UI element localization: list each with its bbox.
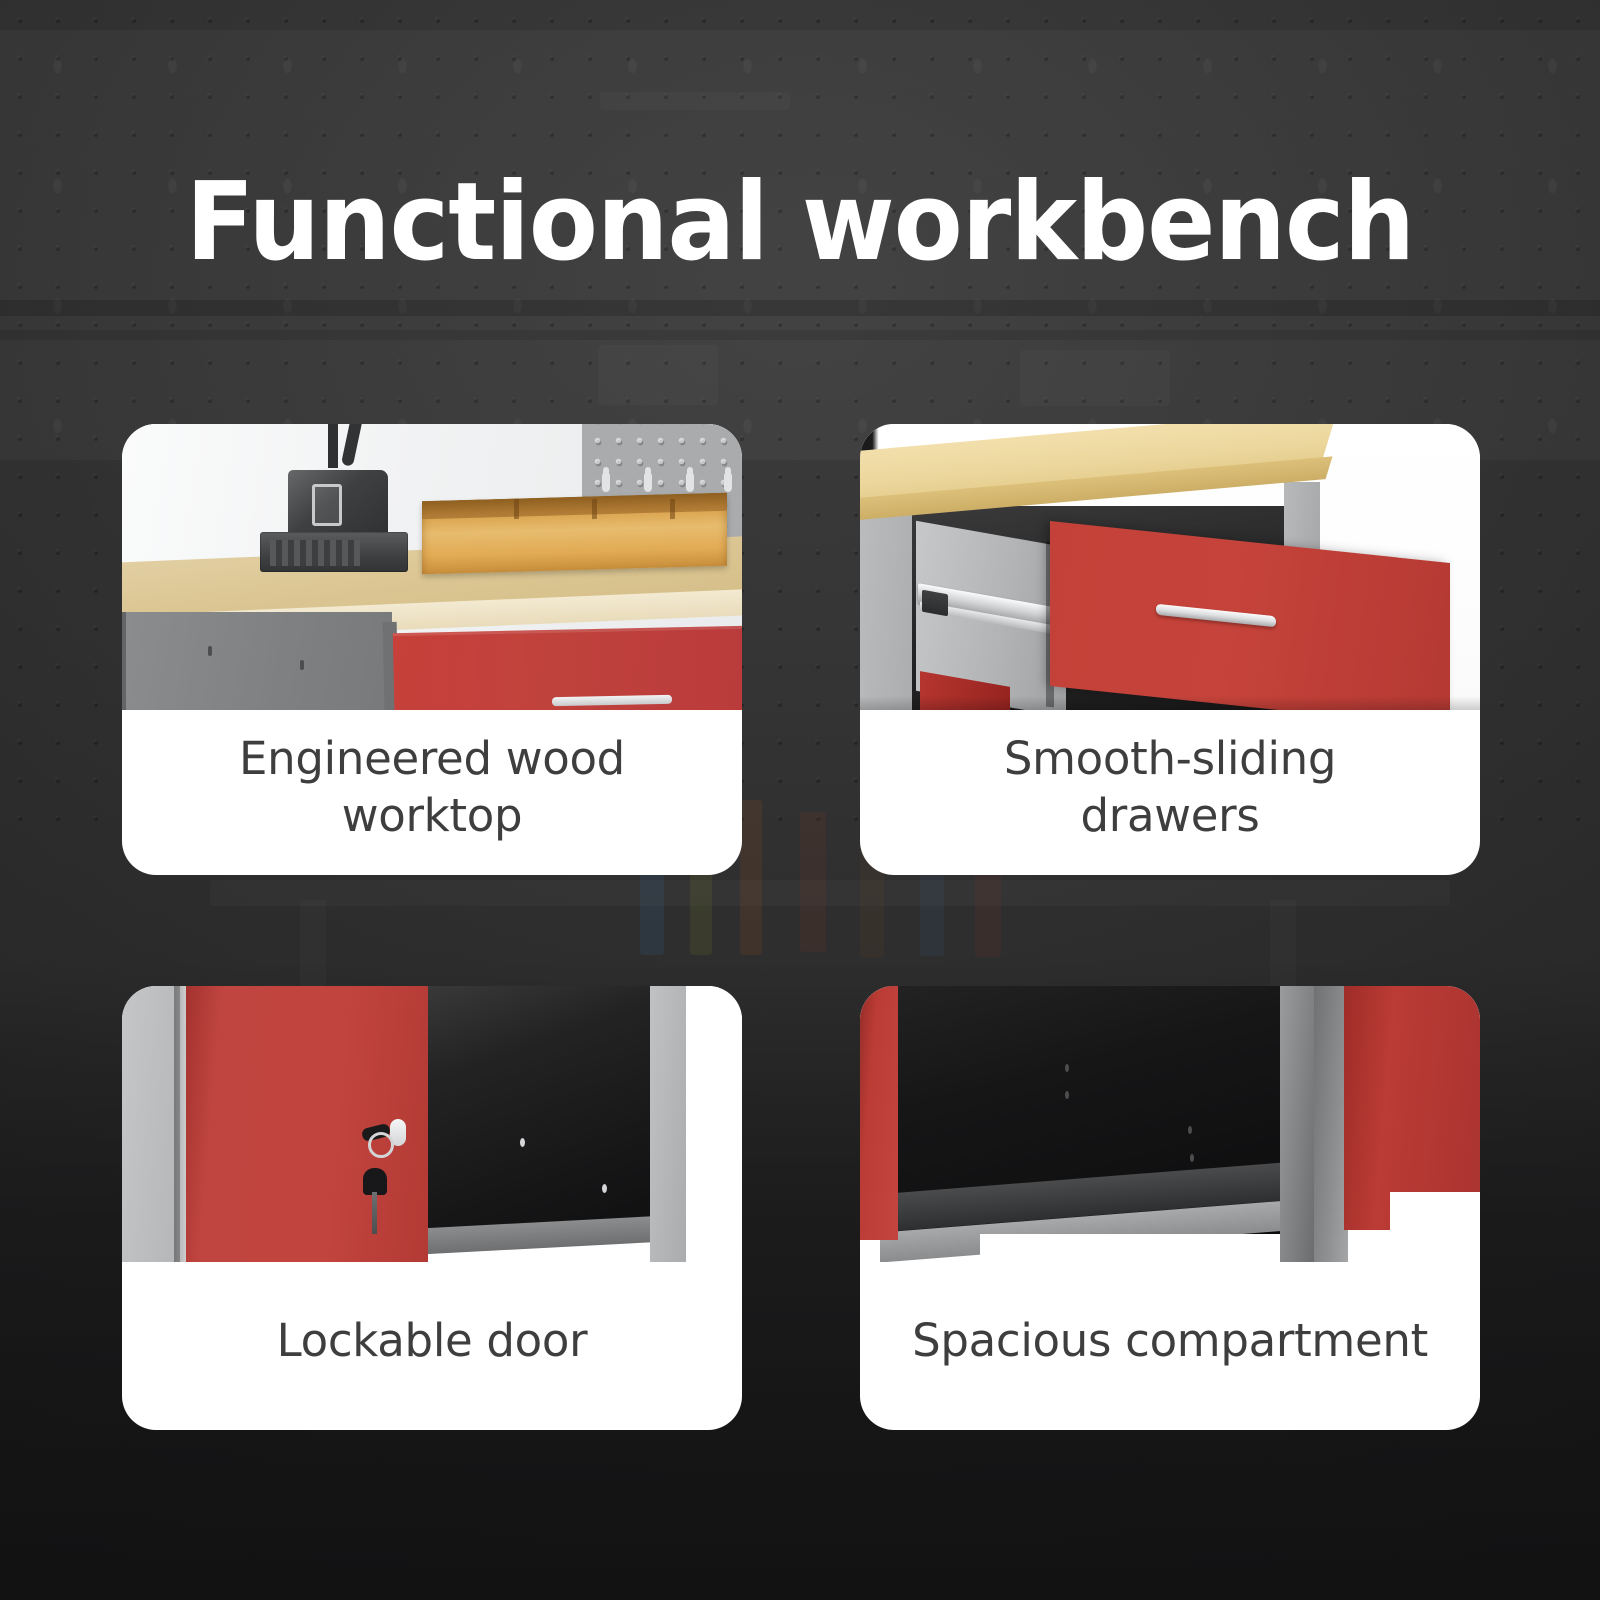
feature-card-smooth-sliding-drawers[interactable]: Smooth-sliding drawers [860, 424, 1480, 875]
feature-caption-engineered-wood-worktop: Engineered wood worktop [122, 710, 742, 875]
caption-line-1: Lockable door [277, 1313, 588, 1369]
cabinet-body-edge [122, 612, 126, 710]
interior-highlight-dot [1188, 1126, 1192, 1134]
interior-highlight-dot [1190, 1154, 1194, 1162]
interior-highlight-dot [1065, 1064, 1069, 1072]
feature-card-lockable-door[interactable]: Lockable door [122, 986, 742, 1430]
slide-rail-clip [922, 590, 948, 617]
tray-divider [514, 499, 519, 519]
tool-clip [312, 484, 342, 526]
cabinet-interior [428, 986, 658, 1228]
screw-icon [208, 646, 212, 656]
cabinet-frame-left [122, 986, 180, 1262]
cabinet-center-post [1280, 986, 1314, 1262]
interior-highlight-dot [602, 1184, 607, 1193]
feature-caption-smooth-sliding-drawers: Smooth-sliding drawers [860, 710, 1480, 875]
caption-line-1: Spacious compartment [912, 1313, 1428, 1369]
screw-icon [300, 660, 304, 670]
feature-card-spacious-compartment[interactable]: Spacious compartment [860, 986, 1480, 1430]
background-shelf-band [0, 300, 1600, 316]
key-head-icon [363, 1168, 387, 1195]
red-door-left [860, 986, 898, 1240]
background-tool-silhouette [598, 345, 718, 405]
interior-highlight-dot [1065, 1091, 1069, 1099]
background-shelf-band [0, 330, 1600, 340]
interior-highlight-dot [520, 1138, 525, 1147]
photo-white-area [682, 986, 742, 1262]
key-ring-icon [368, 1132, 394, 1158]
caption-line-1: Smooth-sliding [1004, 731, 1336, 787]
tool-base [260, 532, 408, 572]
photo-white-area [1390, 1192, 1480, 1262]
caption-line-2: drawers [1004, 788, 1336, 844]
feature-caption-spacious-compartment: Spacious compartment [860, 1262, 1480, 1430]
feature-caption-lockable-door: Lockable door [122, 1262, 742, 1430]
cabinet-body-gray [122, 612, 392, 710]
feature-image-lockable-door [122, 986, 742, 1262]
feature-image-smooth-sliding-drawers [860, 424, 1480, 710]
background-tool-silhouette [1020, 350, 1170, 406]
photo-bottom-shadow [860, 696, 1480, 710]
key-blade-icon [372, 1192, 377, 1234]
background-tool-silhouette [600, 92, 790, 110]
caption-line-1: Engineered wood [239, 731, 625, 787]
feature-card-grid: Engineered wood worktop Smooth-slid [122, 424, 1480, 1430]
feature-image-engineered-wood-worktop [122, 424, 742, 710]
tool-holder-device [260, 444, 408, 572]
cabinet-side-panel [860, 490, 916, 710]
caption-line-2: worktop [239, 788, 625, 844]
tray-divider [670, 499, 675, 519]
cabinet-frame-right [650, 986, 686, 1262]
feature-card-engineered-wood-worktop[interactable]: Engineered wood worktop [122, 424, 742, 875]
tray-divider [592, 499, 597, 519]
cabinet-center-post [1314, 986, 1348, 1262]
page-title: Functional workbench [56, 168, 1544, 278]
feature-image-spacious-compartment [860, 986, 1480, 1262]
